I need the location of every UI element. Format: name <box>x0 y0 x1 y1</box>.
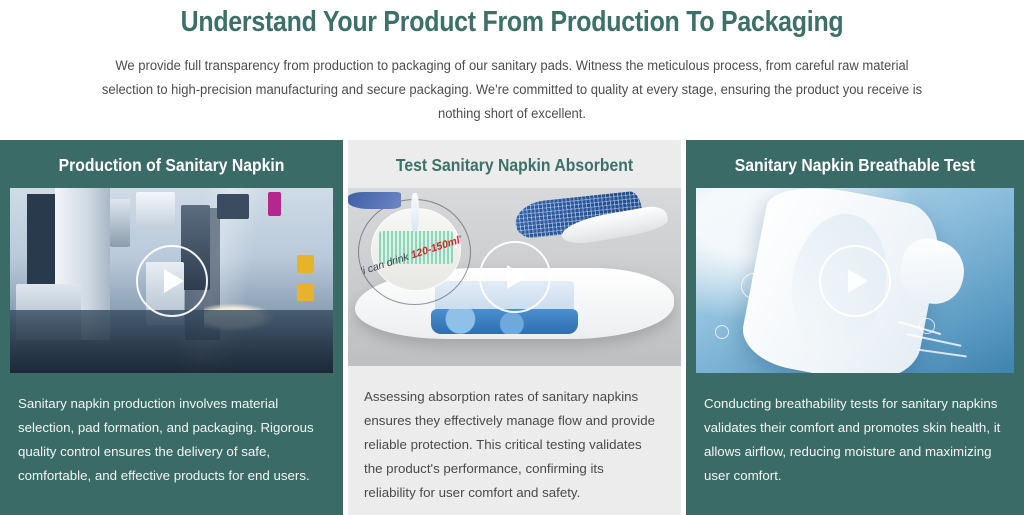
card-body-absorbent: Assessing absorption rates of sanitary n… <box>348 366 681 515</box>
media-thumbnail-absorbent[interactable]: 'i can drink 120-150ml' <box>348 188 681 366</box>
video-card-breathable[interactable]: Sanitary Napkin Breathable Test Conducti… <box>686 140 1024 515</box>
blue-gel-layer <box>431 309 578 334</box>
bubble-icon <box>741 273 767 299</box>
play-icon[interactable] <box>136 245 208 317</box>
page-root: Understand Your Product From Production … <box>0 0 1024 515</box>
bubble-icon <box>715 325 729 339</box>
card-body-production: Sanitary napkin production involves mate… <box>0 373 343 498</box>
video-card-absorbent[interactable]: Test Sanitary Napkin Absorbent 'i can dr… <box>348 140 681 515</box>
video-card-list: Production of Sanitary Napkin Sanitary n… <box>0 140 1024 515</box>
card-title-breathable: Sanitary Napkin Breathable Test <box>703 140 1007 188</box>
media-thumbnail-production[interactable] <box>10 188 333 373</box>
media-thumbnail-breathable[interactable] <box>696 188 1014 373</box>
blue-cap <box>348 192 401 210</box>
card-body-breathable: Conducting breathability tests for sanit… <box>686 373 1024 498</box>
intro-paragraph: We provide full transparency from produc… <box>101 54 924 126</box>
play-triangle-icon <box>848 269 868 293</box>
play-icon[interactable] <box>819 245 891 317</box>
play-triangle-icon <box>164 269 184 293</box>
play-icon[interactable] <box>479 241 551 313</box>
intro-section: Understand Your Product From Production … <box>0 0 1024 126</box>
video-card-production[interactable]: Production of Sanitary Napkin Sanitary n… <box>0 140 343 515</box>
card-title-production: Production of Sanitary Napkin <box>17 140 326 188</box>
airflow-arrows-icon <box>893 316 1001 368</box>
play-triangle-icon <box>507 265 527 289</box>
liquid-drip <box>411 193 418 232</box>
page-title: Understand Your Product From Production … <box>72 4 953 40</box>
card-title-absorbent: Test Sanitary Napkin Absorbent <box>365 140 665 188</box>
